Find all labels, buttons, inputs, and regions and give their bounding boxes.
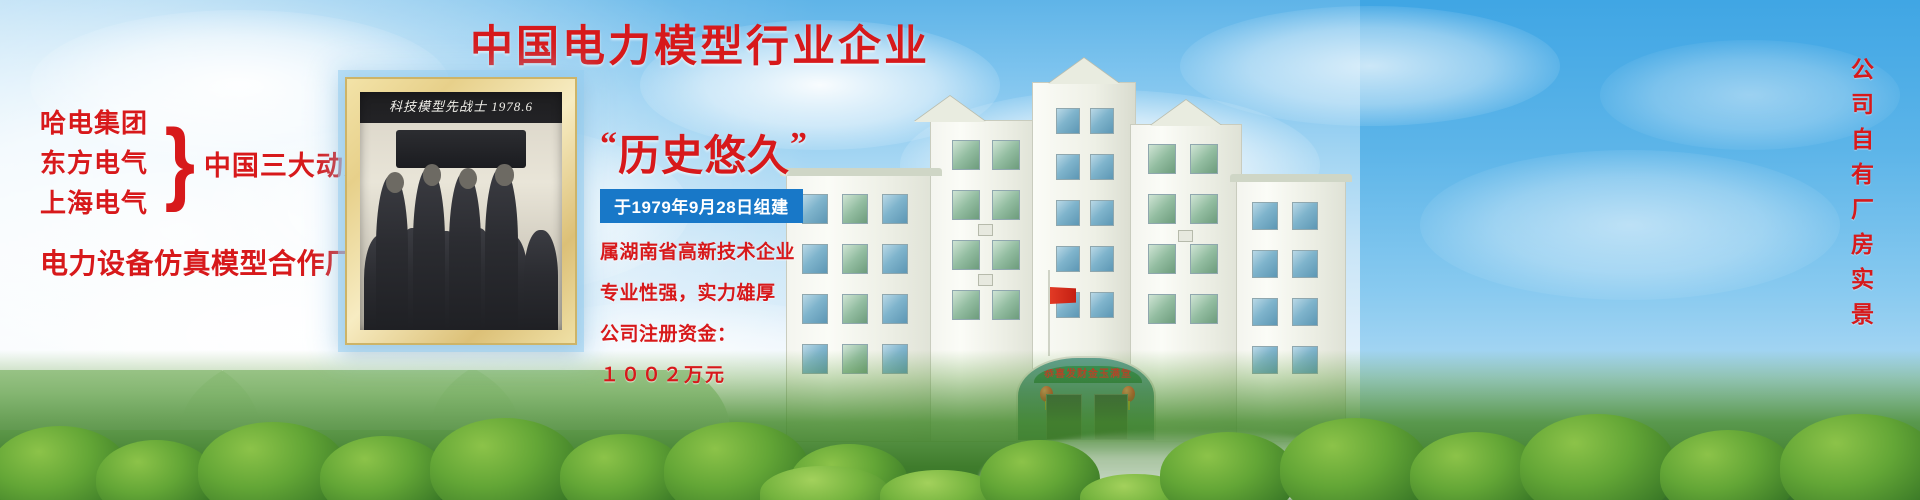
building-gable: [1150, 100, 1222, 126]
building-gable: [1048, 58, 1120, 84]
building-window: [1252, 202, 1278, 230]
founded-date-badge: 于1979年9月28日组建: [600, 189, 803, 223]
building-window: [1190, 144, 1218, 174]
building-window: [952, 140, 980, 170]
vertical-char: 公: [1851, 58, 1874, 81]
building-window: [992, 140, 1020, 170]
air-conditioner-unit: [978, 224, 993, 236]
building-window: [992, 190, 1020, 220]
historical-photo: 科技模型先战士 1978.6: [360, 92, 562, 330]
photo-person-head: [386, 172, 404, 193]
tree: [320, 436, 448, 500]
photo-person: [413, 168, 445, 330]
building-window: [1056, 154, 1080, 180]
building-window: [1148, 294, 1176, 324]
photo-person: [376, 175, 408, 330]
building-window: [1252, 250, 1278, 278]
tree: [430, 418, 580, 500]
building-window: [1148, 244, 1176, 274]
photo-group-of-people: [360, 154, 562, 330]
curly-brace-icon: }: [165, 123, 195, 202]
building-window: [1056, 246, 1080, 272]
photo-person: [485, 168, 517, 330]
building-window: [1292, 202, 1318, 230]
vertical-char: 房: [1851, 233, 1874, 256]
right-vertical-caption: 公 司 自 有 厂 房 实 景: [1851, 58, 1874, 326]
building-gable: [914, 96, 986, 122]
tree: [1280, 418, 1430, 500]
air-conditioner-unit: [1178, 230, 1193, 242]
vertical-char: 实: [1851, 268, 1874, 291]
air-conditioner-unit: [978, 274, 993, 286]
photo-caption: 科技模型先战士 1978.6: [360, 96, 562, 115]
building-window: [1090, 246, 1114, 272]
red-flag: [1050, 287, 1076, 304]
building-roof: [1230, 174, 1352, 182]
copy-line: 公司注册资金：: [600, 319, 900, 346]
partners-list: 哈电集团 东方电气 上海电气: [40, 110, 148, 216]
tree: [1660, 430, 1796, 500]
building-window: [1190, 194, 1218, 224]
historical-photo-frame: 科技模型先战士 1978.6: [345, 77, 577, 345]
copy-line: 专业性强，实力雄厚: [600, 278, 900, 305]
vertical-char: 有: [1851, 163, 1874, 186]
building-window: [1090, 154, 1114, 180]
building-window: [1252, 298, 1278, 326]
partner-item: 哈电集团: [40, 110, 148, 136]
partner-item: 东方电气: [40, 150, 148, 176]
copy-line: 属湖南省高新技术企业: [600, 237, 900, 264]
building-window: [1292, 298, 1318, 326]
building-window: [1148, 144, 1176, 174]
vertical-char: 自: [1851, 128, 1874, 151]
quote-open-mark: “: [600, 126, 618, 163]
tree: [1520, 414, 1676, 500]
tree-line: [0, 370, 1920, 500]
building-window: [952, 290, 980, 320]
building-window: [1090, 200, 1114, 226]
building-window: [1190, 294, 1218, 324]
quote-close-mark: ”: [790, 126, 808, 163]
history-headline-text: 历史悠久: [618, 132, 790, 179]
building-window: [1090, 108, 1114, 134]
building-window: [1190, 244, 1218, 274]
page-title: 中国电力模型行业企业: [470, 12, 930, 74]
partner-item: 上海电气: [40, 190, 148, 216]
center-copy-block: “历史悠久” 于1979年9月28日组建 属湖南省高新技术企业 专业性强，实力雄…: [600, 128, 900, 387]
history-headline: “历史悠久”: [600, 128, 900, 177]
building-window: [1090, 292, 1114, 318]
vertical-char: 司: [1851, 93, 1874, 116]
photo-person: [524, 230, 558, 330]
building-window: [1292, 250, 1318, 278]
building-window: [1056, 108, 1080, 134]
photo-person-head: [495, 164, 513, 185]
photo-person-head: [423, 164, 441, 185]
vertical-char: 厂: [1851, 198, 1874, 221]
building-window: [1056, 200, 1080, 226]
building-window: [952, 190, 980, 220]
building-window: [952, 240, 980, 270]
promo-banner: 恭喜发财金玉满堂 中国电力模型行业企业: [0, 0, 1920, 500]
vertical-char: 景: [1851, 303, 1874, 326]
building-window: [1148, 194, 1176, 224]
building-window: [992, 240, 1020, 270]
photo-person: [449, 172, 481, 330]
tree: [1780, 414, 1920, 500]
building-window: [992, 290, 1020, 320]
flag-pole: [1048, 270, 1050, 356]
registered-capital-amount: １００２万元: [600, 360, 900, 387]
